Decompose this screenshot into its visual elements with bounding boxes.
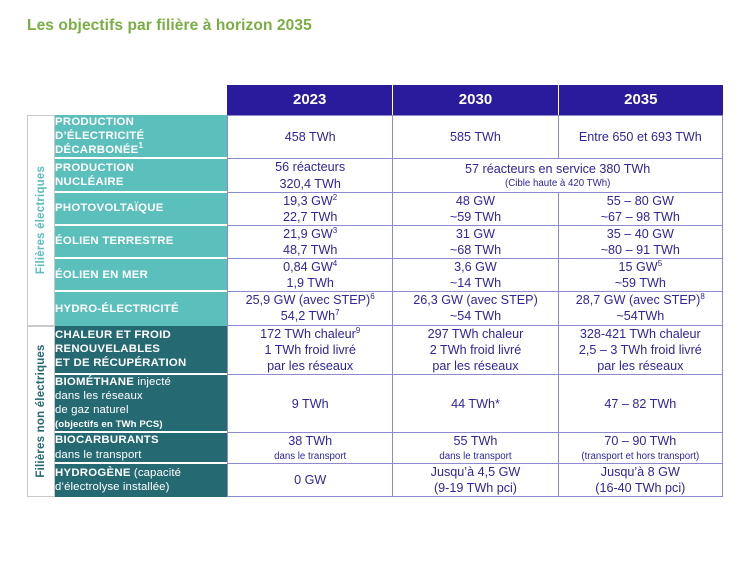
cell-line-2: ~54TWh <box>616 309 664 323</box>
table-row-hydrogene: HYDROGÈNE (capacitéd’électrolyse install… <box>27 464 723 497</box>
cell-line-2: 1,9 TWh <box>286 276 333 290</box>
cell-2023-hydro-electricite: 25,9 GW (avec STEP)6 54,2 TWh7 <box>227 292 392 325</box>
cell-line-2: ~80 – 91 TWh <box>601 243 680 257</box>
cell-line-1: 28,7 GW (avec STEP) <box>576 293 701 307</box>
row-label-bold: BIOMÉTHANE <box>55 376 134 388</box>
row-label-rest: dans le transport <box>55 449 142 461</box>
footnote-marker-1: 1 <box>139 141 144 150</box>
cell-line-1: 26,3 GW (avec STEP) <box>413 293 538 307</box>
cell-note: dans le transport <box>393 450 557 463</box>
cell-2023-biomethane: 9 TWh <box>227 375 392 434</box>
row-label-text: PRODUCTIOND’ÉLECTRICITÉDÉCARBONÉE <box>55 116 144 156</box>
row-label-biocarburants: BIOCARBURANTSdans le transport <box>55 433 227 463</box>
row-label-bold: HYDROGÈNE <box>55 467 131 479</box>
table-row-hydro-electricite: HYDRO-ÉLECTRICITÉ 25,9 GW (avec STEP)6 5… <box>27 292 723 325</box>
cell-line-2: ~68 TWh <box>450 243 501 257</box>
column-header-2023: 2023 <box>227 85 392 115</box>
cell-line-2: (16-40 TWh pci) <box>595 481 685 495</box>
row-label-hydrogene: HYDROGÈNE (capacitéd’électrolyse install… <box>55 464 227 497</box>
cell-line-1: 15 GW <box>618 260 657 274</box>
cell-2030-eolien-terrestre: 31 GW ~68 TWh <box>392 226 557 259</box>
table-row-biomethane: BIOMÉTHANE injectédans les réseauxde gaz… <box>27 375 723 434</box>
cell-2030-chaleur-et-froid: 297 TWh chaleur 2 TWh froid livré par le… <box>392 326 557 375</box>
cell-line-1: 25,9 GW (avec STEP) <box>246 293 371 307</box>
footnote-marker-7: 7 <box>335 308 339 317</box>
cell-line-1: 297 TWh chaleur <box>428 327 524 341</box>
cell-line-2: ~59 TWh <box>615 276 666 290</box>
cell-2035-eolien-en-mer: 15 GW5 ~59 TWh <box>558 259 723 292</box>
objectives-table: 2023 2030 2035 Filières électriques PROD… <box>27 85 723 497</box>
cell-2023-eolien-terrestre: 21,9 GW3 48,7 TWh <box>227 226 392 259</box>
section-label-text: Filières non électriques <box>35 345 47 478</box>
table-row-biocarburants: BIOCARBURANTSdans le transport 38 TWh da… <box>27 433 723 463</box>
cell-line-2: 22,7 TWh <box>283 210 337 224</box>
table-row-eolien-terrestre: ÉOLIEN TERRESTRE 21,9 GW3 48,7 TWh 31 GW… <box>27 226 723 259</box>
cell-2030-hydro-electricite: 26,3 GW (avec STEP) ~54 TWh <box>392 292 557 325</box>
cell-line-1: 55 TWh <box>454 434 498 448</box>
cell-line-1: 3,6 GW <box>454 260 497 274</box>
cell-line-1: 172 TWh chaleur <box>260 327 356 341</box>
cell-2035-eolien-terrestre: 35 – 40 GW ~80 – 91 TWh <box>558 226 723 259</box>
cell-2035-production-electricite-decarbonee: Entre 650 et 693 TWh <box>558 115 723 159</box>
table-row-eolien-en-mer: ÉOLIEN EN MER 0,84 GW4 1,9 TWh 3,6 GW ~1… <box>27 259 723 292</box>
cell-line-1: Jusqu’à 8 GW <box>601 465 680 479</box>
row-label-eolien-terrestre: ÉOLIEN TERRESTRE <box>55 226 227 259</box>
section-label-text: Filières électriques <box>35 166 47 274</box>
cell-line-1: 38 TWh <box>288 434 332 448</box>
cell-2030-biocarburants: 55 TWh dans le transport <box>392 433 557 463</box>
cell-line-2: 1 TWh froid livré <box>264 343 355 357</box>
cell-line-2: ~14 TWh <box>450 276 501 290</box>
row-label-production-nucleaire: PRODUCTIONNUCLÉAIRE <box>55 159 227 192</box>
table-row-photovoltaique: PHOTOVOLTAÏQUE 19,3 GW2 22,7 TWh 48 GW ~… <box>27 193 723 226</box>
cell-2023-production-nucleaire: 56 réacteurs320,4 TWh <box>227 159 392 192</box>
cell-note: dans le transport <box>228 450 392 463</box>
cell-line-1: Jusqu’à 4,5 GW <box>431 465 521 479</box>
cell-2035-biomethane: 47 – 82 TWh <box>558 375 723 434</box>
footnote-marker-5: 5 <box>658 259 662 268</box>
cell-2035-hydrogene: Jusqu’à 8 GW (16-40 TWh pci) <box>558 464 723 497</box>
footnote-marker-2: 2 <box>333 192 337 201</box>
cell-2035-photovoltaique: 55 – 80 GW ~67 – 98 TWh <box>558 193 723 226</box>
header-corner-blank <box>55 85 227 115</box>
header-corner-spacer <box>27 85 55 115</box>
row-label-photovoltaique: PHOTOVOLTAÏQUE <box>55 193 227 226</box>
cell-line-1: 0,84 GW <box>283 260 333 274</box>
section-label-filieres-electriques: Filières électriques <box>27 115 55 326</box>
cell-2035-chaleur-et-froid: 328-421 TWh chaleur 2,5 – 3 TWh froid li… <box>558 326 723 375</box>
row-label-chaleur-et-froid: CHALEUR ET FROIDRENOUVELABLESET DE RÉCUP… <box>55 326 227 375</box>
cell-2030-eolien-en-mer: 3,6 GW ~14 TWh <box>392 259 557 292</box>
row-label-production-electricite-decarbonee: PRODUCTIOND’ÉLECTRICITÉDÉCARBONÉE1 <box>55 115 227 159</box>
cell-merged-note: (Cible haute à 420 TWh) <box>393 177 722 190</box>
cell-line-3: par les réseaux <box>597 359 683 373</box>
cell-line-1: 70 – 90 TWh <box>604 434 676 448</box>
footnote-marker-4: 4 <box>333 259 337 268</box>
footnote-marker-6: 6 <box>370 292 374 301</box>
cell-merged-main: 57 réacteurs en service 380 TWh <box>465 162 650 176</box>
table-row-chaleur-et-froid: Filières non électriques CHALEUR ET FROI… <box>27 326 723 375</box>
cell-line-1: 55 – 80 GW <box>607 194 674 208</box>
row-label-biomethane: BIOMÉTHANE injectédans les réseauxde gaz… <box>55 375 227 434</box>
cell-2023-photovoltaique: 19,3 GW2 22,7 TWh <box>227 193 392 226</box>
cell-line-1: 31 GW <box>456 227 495 241</box>
table-row-production-nucleaire: PRODUCTIONNUCLÉAIRE 56 réacteurs320,4 TW… <box>27 159 723 192</box>
row-label-tiny: (objectifs en TWh PCS) <box>55 419 163 430</box>
cell-line-1: 35 – 40 GW <box>607 227 674 241</box>
cell-line-1: 48 GW <box>456 194 495 208</box>
cell-line-3: par les réseaux <box>267 359 353 373</box>
cell-line-2: ~59 TWh <box>450 210 501 224</box>
footnote-marker-3: 3 <box>333 226 337 235</box>
cell-line-2: 54,2 TWh <box>281 309 335 323</box>
cell-line-2: ~54 TWh <box>450 309 501 323</box>
cell-2030-production-electricite-decarbonee: 585 TWh <box>392 115 557 159</box>
cell-2035-hydro-electricite: 28,7 GW (avec STEP)8 ~54TWh <box>558 292 723 325</box>
cell-line-2: 2 TWh froid livré <box>430 343 521 357</box>
cell-2030-photovoltaique: 48 GW ~59 TWh <box>392 193 557 226</box>
objectives-table-wrapper: 2023 2030 2035 Filières électriques PROD… <box>27 85 723 497</box>
cell-line-1: 21,9 GW <box>283 227 333 241</box>
row-label-eolien-en-mer: ÉOLIEN EN MER <box>55 259 227 292</box>
cell-2030-hydrogene: Jusqu’à 4,5 GW (9-19 TWh pci) <box>392 464 557 497</box>
cell-2023-eolien-en-mer: 0,84 GW4 1,9 TWh <box>227 259 392 292</box>
cell-line-2: ~67 – 98 TWh <box>601 210 680 224</box>
cell-line-3: par les réseaux <box>432 359 518 373</box>
cell-2030-2035-production-nucleaire-merged: 57 réacteurs en service 380 TWh (Cible h… <box>392 159 723 192</box>
cell-2030-biomethane: 44 TWh* <box>392 375 557 434</box>
footnote-marker-9: 9 <box>356 325 360 334</box>
cell-2023-hydrogene: 0 GW <box>227 464 392 497</box>
cell-2035-biocarburants: 70 – 90 TWh (transport et hors transport… <box>558 433 723 463</box>
cell-line-1: 328-421 TWh chaleur <box>580 327 701 341</box>
cell-line-2: (9-19 TWh pci) <box>434 481 517 495</box>
footnote-marker-8: 8 <box>700 292 704 301</box>
cell-line-2: 2,5 – 3 TWh froid livré <box>579 343 702 357</box>
cell-note: (transport et hors transport) <box>559 450 722 463</box>
cell-2023-biocarburants: 38 TWh dans le transport <box>227 433 392 463</box>
row-label-hydro-electricite: HYDRO-ÉLECTRICITÉ <box>55 292 227 325</box>
column-header-2035: 2035 <box>558 85 723 115</box>
table-row-production-electricite-decarbonee: Filières électriques PRODUCTIOND’ÉLECTRI… <box>27 115 723 159</box>
cell-2023-production-electricite-decarbonee: 458 TWh <box>227 115 392 159</box>
cell-line-2: 48,7 TWh <box>283 243 337 257</box>
section-label-filieres-non-electriques: Filières non électriques <box>27 326 55 497</box>
cell-2023-chaleur-et-froid: 172 TWh chaleur9 1 TWh froid livré par l… <box>227 326 392 375</box>
cell-line-1: 19,3 GW <box>283 194 333 208</box>
column-header-2030: 2030 <box>392 85 557 115</box>
table-header-row: 2023 2030 2035 <box>27 85 723 115</box>
row-label-bold: BIOCARBURANTS <box>55 434 159 446</box>
page-title: Les objectifs par filière à horizon 2035 <box>27 17 312 35</box>
